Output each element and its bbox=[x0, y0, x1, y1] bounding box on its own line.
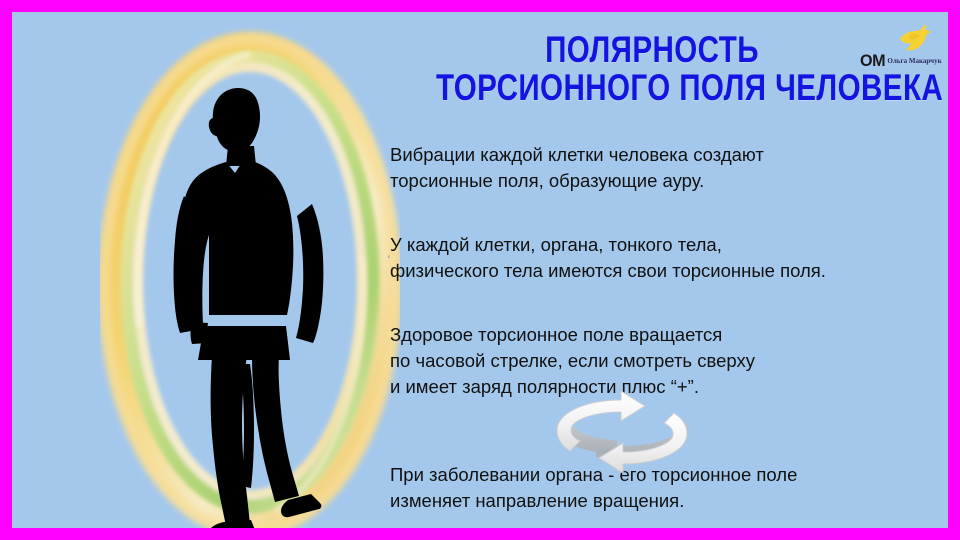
slide-canvas: ПОЛЯРНОСТЬ ТОРСИОННОГО ПОЛЯ ЧЕЛОВЕКА OM … bbox=[12, 12, 948, 528]
title-line-2: ТОРСИОННОГО ПОЛЯ ЧЕЛОВЕКА bbox=[436, 70, 868, 106]
paragraph-vibrations: Вибрации каждой клетки человека создают … bbox=[390, 142, 764, 194]
logo-author-name: Ольга Макарчук bbox=[887, 57, 941, 66]
title-line-1: ПОЛЯРНОСТЬ bbox=[436, 32, 868, 68]
logo-text-row: OM Ольга Макарчук bbox=[860, 52, 948, 74]
slide-frame: ПОЛЯРНОСТЬ ТОРСИОННОГО ПОЛЯ ЧЕЛОВЕКА OM … bbox=[0, 0, 960, 540]
illustration-figure bbox=[100, 26, 400, 528]
clockwise-rotation-arrows bbox=[537, 390, 707, 482]
man-silhouette bbox=[100, 26, 400, 528]
author-logo: OM Ольга Макарчук bbox=[860, 22, 948, 80]
paragraph-each-cell: У каждой клетки, органа, тонкого тела, ф… bbox=[390, 232, 826, 284]
dove-icon bbox=[894, 22, 936, 52]
logo-monogram: OM bbox=[860, 52, 885, 69]
paragraph-healthy-field: Здоровое торсионное поле вращается по ча… bbox=[390, 322, 755, 400]
page-title: ПОЛЯРНОСТЬ ТОРСИОННОГО ПОЛЯ ЧЕЛОВЕКА bbox=[382, 32, 922, 107]
